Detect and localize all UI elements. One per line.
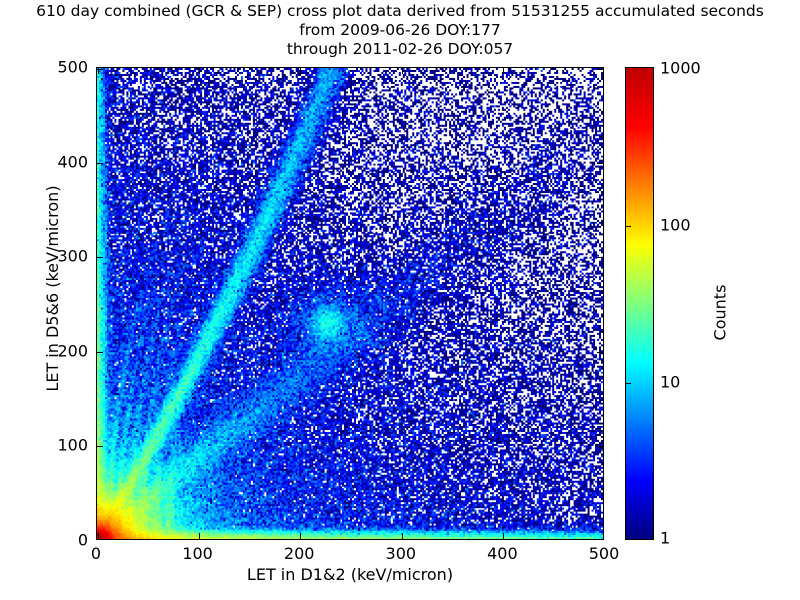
colorbar-gradient bbox=[626, 68, 653, 539]
colorbar bbox=[625, 67, 654, 540]
x-tick-label: 500 bbox=[589, 544, 620, 563]
title-line-3: through 2011-02-26 DOY:057 bbox=[0, 40, 800, 59]
title-line-1: 610 day combined (GCR & SEP) cross plot … bbox=[0, 2, 800, 21]
colorbar-tick-label: 1 bbox=[660, 529, 670, 548]
x-tick-top bbox=[402, 68, 403, 74]
y-tick-label: 0 bbox=[78, 531, 88, 550]
title-line-2: from 2009-06-26 DOY:177 bbox=[0, 21, 800, 40]
y-tick-right bbox=[597, 257, 603, 258]
x-tick-top bbox=[603, 68, 604, 74]
y-axis-label: LET in D5&6 (keV/micron) bbox=[43, 52, 62, 525]
y-tick bbox=[97, 352, 103, 353]
y-tick-label: 100 bbox=[57, 436, 88, 455]
y-tick-label: 200 bbox=[57, 341, 88, 360]
x-tick-label: 100 bbox=[182, 544, 213, 563]
x-tick-label: 0 bbox=[91, 544, 101, 563]
x-tick-top bbox=[199, 68, 200, 74]
colorbar-tick-label: 1000 bbox=[660, 59, 701, 78]
plot-axes bbox=[96, 67, 604, 540]
x-tick-label: 400 bbox=[487, 544, 518, 563]
x-tick-label: 300 bbox=[386, 544, 417, 563]
x-tick-label: 200 bbox=[284, 544, 315, 563]
y-tick bbox=[97, 163, 103, 164]
x-tick bbox=[199, 533, 200, 539]
y-tick-right bbox=[597, 539, 603, 540]
y-tick-right bbox=[597, 446, 603, 447]
x-tick bbox=[603, 533, 604, 539]
colorbar-label: Counts bbox=[711, 193, 730, 433]
x-tick bbox=[300, 533, 301, 539]
y-tick bbox=[97, 539, 103, 540]
colorbar-tick bbox=[626, 383, 631, 384]
chart-title: 610 day combined (GCR & SEP) cross plot … bbox=[0, 2, 800, 59]
y-tick-label: 300 bbox=[57, 247, 88, 266]
y-tick bbox=[97, 69, 103, 70]
y-tick-right bbox=[597, 163, 603, 164]
y-tick-label: 500 bbox=[57, 58, 88, 77]
x-tick-top bbox=[300, 68, 301, 74]
colorbar-tick bbox=[626, 226, 631, 227]
density-plot-canvas bbox=[97, 68, 603, 539]
y-tick bbox=[97, 257, 103, 258]
x-tick bbox=[503, 533, 504, 539]
y-tick-label: 400 bbox=[57, 152, 88, 171]
x-axis-label: LET in D1&2 (keV/micron) bbox=[96, 565, 604, 584]
colorbar-tick-label: 10 bbox=[660, 373, 680, 392]
x-tick-top bbox=[503, 68, 504, 74]
x-tick bbox=[402, 533, 403, 539]
figure-container: 610 day combined (GCR & SEP) cross plot … bbox=[0, 0, 800, 600]
y-tick bbox=[97, 446, 103, 447]
colorbar-tick-label: 100 bbox=[660, 215, 691, 234]
y-tick-right bbox=[597, 352, 603, 353]
y-tick-right bbox=[597, 69, 603, 70]
